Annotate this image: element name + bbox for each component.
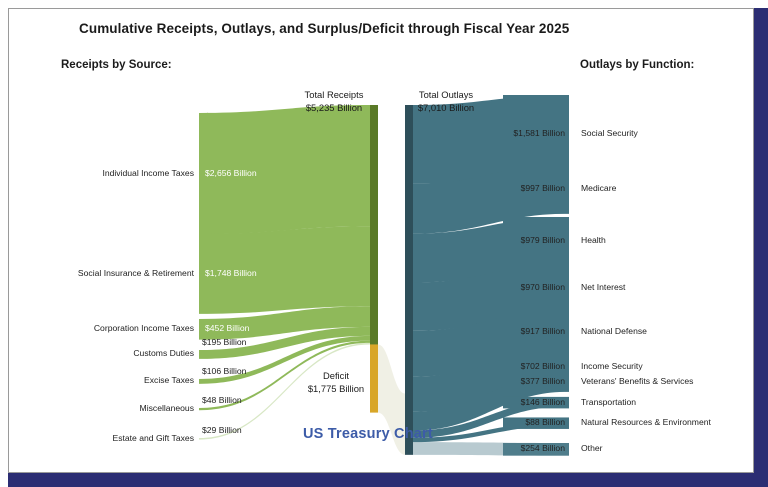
- receipt-label-5: Miscellaneous: [29, 403, 194, 413]
- deficit-value: $1,775 Billion: [283, 382, 389, 395]
- outlay-value-2: $979 Billion: [505, 235, 565, 245]
- total-receipts-value: $5,235 Billion: [279, 102, 389, 115]
- outlay-label-3: Net Interest: [581, 282, 625, 292]
- receipt-value-2: $452 Billion: [205, 323, 249, 333]
- sankey-chart: Cumulative Receipts, Outlays, and Surplu…: [9, 9, 753, 472]
- outlay-label-1: Medicare: [581, 183, 616, 193]
- outlay-value-5: $702 Billion: [505, 361, 565, 371]
- receipt-value-0: $2,656 Billion: [205, 168, 257, 178]
- receipt-label-0: Individual Income Taxes: [29, 168, 194, 178]
- receipt-label-1: Social Insurance & Retirement: [29, 268, 194, 278]
- outlay-label-9: Other: [581, 443, 603, 453]
- outlay-value-6: $377 Billion: [505, 376, 565, 386]
- outlay-label-2: Health: [581, 235, 606, 245]
- total-outlays-value: $7,010 Billion: [391, 102, 501, 115]
- outlay-value-7: $146 Billion: [505, 397, 565, 407]
- outlay-label-5: Income Security: [581, 361, 643, 371]
- outlay-label-0: Social Security: [581, 128, 638, 138]
- outlay-label-4: National Defense: [581, 326, 647, 336]
- total-outlays-title: Total Outlays: [391, 89, 501, 102]
- outlay-value-8: $88 Billion: [505, 417, 565, 427]
- outlay-value-3: $970 Billion: [505, 282, 565, 292]
- receipt-label-2: Corporation Income Taxes: [29, 323, 194, 333]
- deficit-title: Deficit: [283, 369, 389, 382]
- receipt-value-5: $48 Billion: [202, 395, 242, 405]
- total-receipts-title: Total Receipts: [279, 89, 389, 102]
- receipt-value-6: $29 Billion: [202, 425, 242, 435]
- receipt-label-4: Excise Taxes: [29, 375, 194, 385]
- total-receipts-block: Total Receipts $5,235 Billion: [279, 89, 389, 114]
- watermark-label: US Treasury Chart: [303, 426, 433, 442]
- outlay-value-9: $254 Billion: [505, 443, 565, 453]
- outlay-value-0: $1,581 Billion: [505, 128, 565, 138]
- deficit-block: Deficit $1,775 Billion: [283, 369, 389, 395]
- outlay-value-4: $917 Billion: [505, 326, 565, 336]
- receipt-value-1: $1,748 Billion: [205, 268, 257, 278]
- receipt-label-3: Customs Duties: [29, 348, 194, 358]
- screenshot-frame: Cumulative Receipts, Outlays, and Surplu…: [0, 0, 768, 487]
- receipt-value-4: $106 Billion: [202, 366, 246, 376]
- outlay-label-7: Transportation: [581, 397, 636, 407]
- outlay-label-6: Veterans' Benefits & Services: [581, 376, 693, 386]
- border-band-bottom: [8, 473, 768, 487]
- outlay-label-8: Natural Resources & Environment: [581, 417, 711, 427]
- receipt-value-3: $195 Billion: [202, 337, 246, 347]
- border-band-right: [754, 8, 768, 487]
- outlay-value-1: $997 Billion: [505, 183, 565, 193]
- receipt-label-6: Estate and Gift Taxes: [29, 433, 194, 443]
- total-outlays-block: Total Outlays $7,010 Billion: [391, 89, 501, 114]
